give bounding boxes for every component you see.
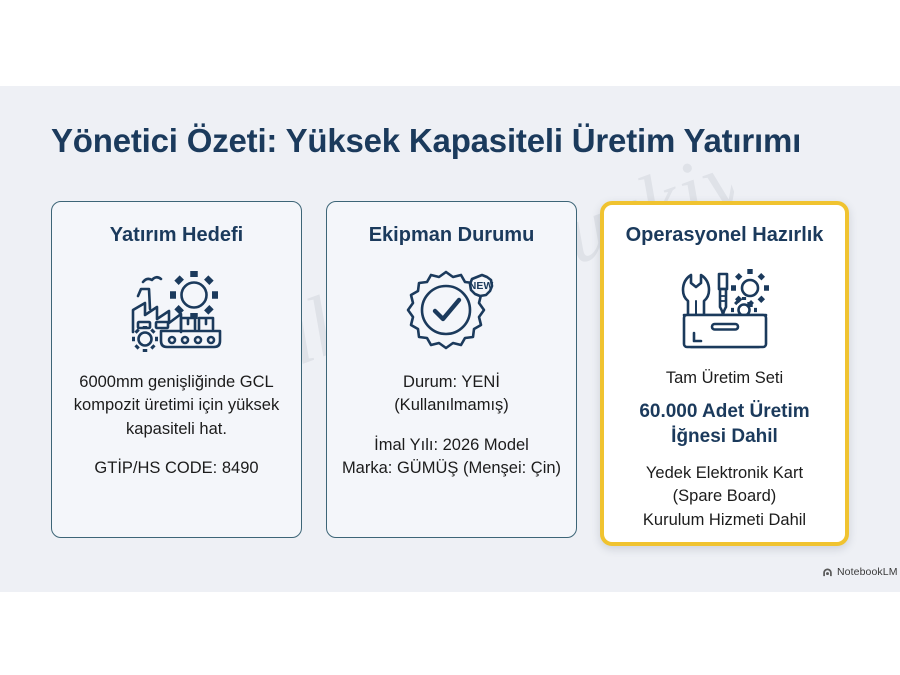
card-operasyonel-hazirlik[interactable]: Operasyonel Hazırlık — [600, 201, 849, 546]
card-title: Ekipman Durumu — [369, 224, 535, 247]
notebooklm-logo-icon — [822, 567, 833, 578]
new-badge-check-icon: NEW — [406, 263, 498, 359]
factory-gear-conveyor-icon — [125, 263, 229, 359]
notebooklm-badge: NotebookLM — [822, 566, 898, 578]
card-body: Durum: YENİ (Kullanılmamış) İmal Yılı: 2… — [327, 371, 576, 481]
slide-canvas: emlakjet naturkiye.com Yönetici Özeti: Y… — [0, 0, 900, 675]
card-text-block: İmal Yılı: 2026 Model Marka: GÜMÜŞ (Menş… — [337, 434, 566, 481]
page-title: Yönetici Özeti: Yüksek Kapasiteli Üretim… — [51, 122, 851, 160]
card-title: Yatırım Hedefi — [110, 224, 243, 247]
toolbox-wrench-screwdriver-gear-icon — [679, 261, 771, 355]
notebooklm-label: NotebookLM — [837, 566, 898, 578]
card-text-block: Yedek Elektronik Kart (Spare Board) Kuru… — [614, 462, 835, 532]
card-body: 6000mm genişliğinde GCL kompozit üretimi… — [52, 371, 301, 481]
card-text-block: GTİP/HS CODE: 8490 — [62, 457, 291, 480]
cards-row: Yatırım Hedefi — [51, 201, 851, 546]
card-text-block: Tam Üretim Seti — [614, 367, 835, 390]
card-body: Tam Üretim Seti 60.000 Adet Üretim İğnes… — [604, 367, 845, 532]
card-yatirim-hedefi[interactable]: Yatırım Hedefi — [51, 201, 302, 538]
svg-text:NEW: NEW — [468, 280, 493, 292]
card-text-emphasis: 60.000 Adet Üretim İğnesi Dahil — [614, 400, 835, 449]
card-title: Operasyonel Hazırlık — [626, 224, 824, 247]
card-ekipman-durumu[interactable]: Ekipman Durumu NEW Durum: YENİ (Kullanıl… — [326, 201, 577, 538]
card-text-block: Durum: YENİ (Kullanılmamış) — [337, 371, 566, 418]
card-text-block: 6000mm genişliğinde GCL kompozit üretimi… — [62, 371, 291, 441]
